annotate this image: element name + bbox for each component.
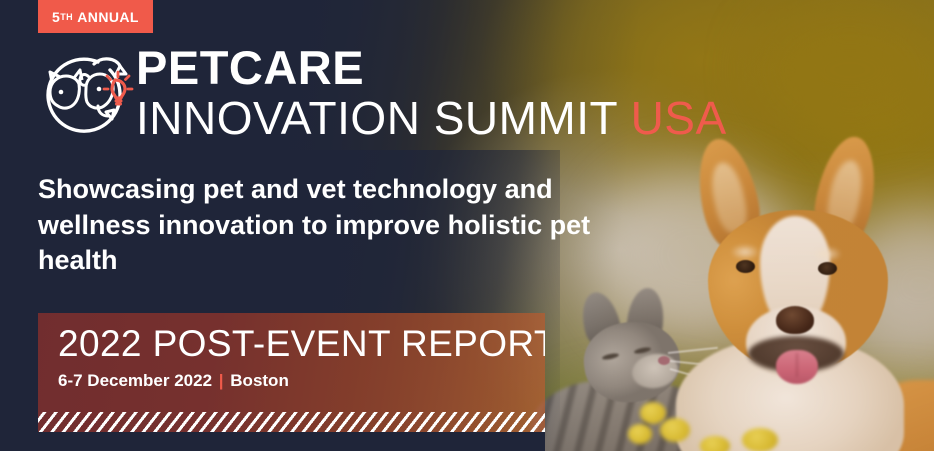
annual-badge: 5TH ANNUAL xyxy=(38,0,153,33)
event-title-line2: INNOVATION SUMMIT USA xyxy=(136,94,727,142)
dog-nose xyxy=(776,306,814,334)
flower xyxy=(660,418,690,442)
report-location: Boston xyxy=(230,371,289,390)
annual-badge-ordinal: 5 xyxy=(52,9,60,25)
petcare-logo-icon xyxy=(36,48,134,144)
event-title: PETCARE INNOVATION SUMMIT USA xyxy=(136,44,727,142)
event-tagline: Showcasing pet and vet technology and we… xyxy=(38,172,618,279)
report-date-location: 6-7 December 2022 | Boston xyxy=(58,371,289,391)
event-title-line1: PETCARE xyxy=(136,44,727,92)
flower xyxy=(742,428,778,451)
dog-eye-left xyxy=(736,260,755,273)
event-title-region: USA xyxy=(631,92,727,144)
flower xyxy=(640,402,666,424)
report-heading: 2022 POST-EVENT REPORT xyxy=(58,323,545,365)
diagonal-stripe-pattern xyxy=(38,412,545,432)
event-title-line2-main: INNOVATION SUMMIT xyxy=(136,92,617,144)
dog-illustration xyxy=(690,138,934,451)
post-event-report-banner: 2022 POST-EVENT REPORT 6-7 December 2022… xyxy=(38,313,545,432)
event-hero-banner: 5TH ANNUAL PETCARE INN xyxy=(0,0,934,451)
dog-brow-right xyxy=(812,246,842,262)
report-separator: | xyxy=(217,371,226,390)
dog-eye-right xyxy=(818,262,837,275)
flower xyxy=(700,436,730,451)
cat-nose xyxy=(658,356,670,365)
flower xyxy=(628,424,652,444)
report-dates: 6-7 December 2022 xyxy=(58,371,212,390)
dog-brow-left xyxy=(730,244,760,260)
bottom-navy-strip xyxy=(0,432,545,451)
annual-badge-label: ANNUAL xyxy=(77,9,139,25)
dog-tongue xyxy=(776,350,818,384)
